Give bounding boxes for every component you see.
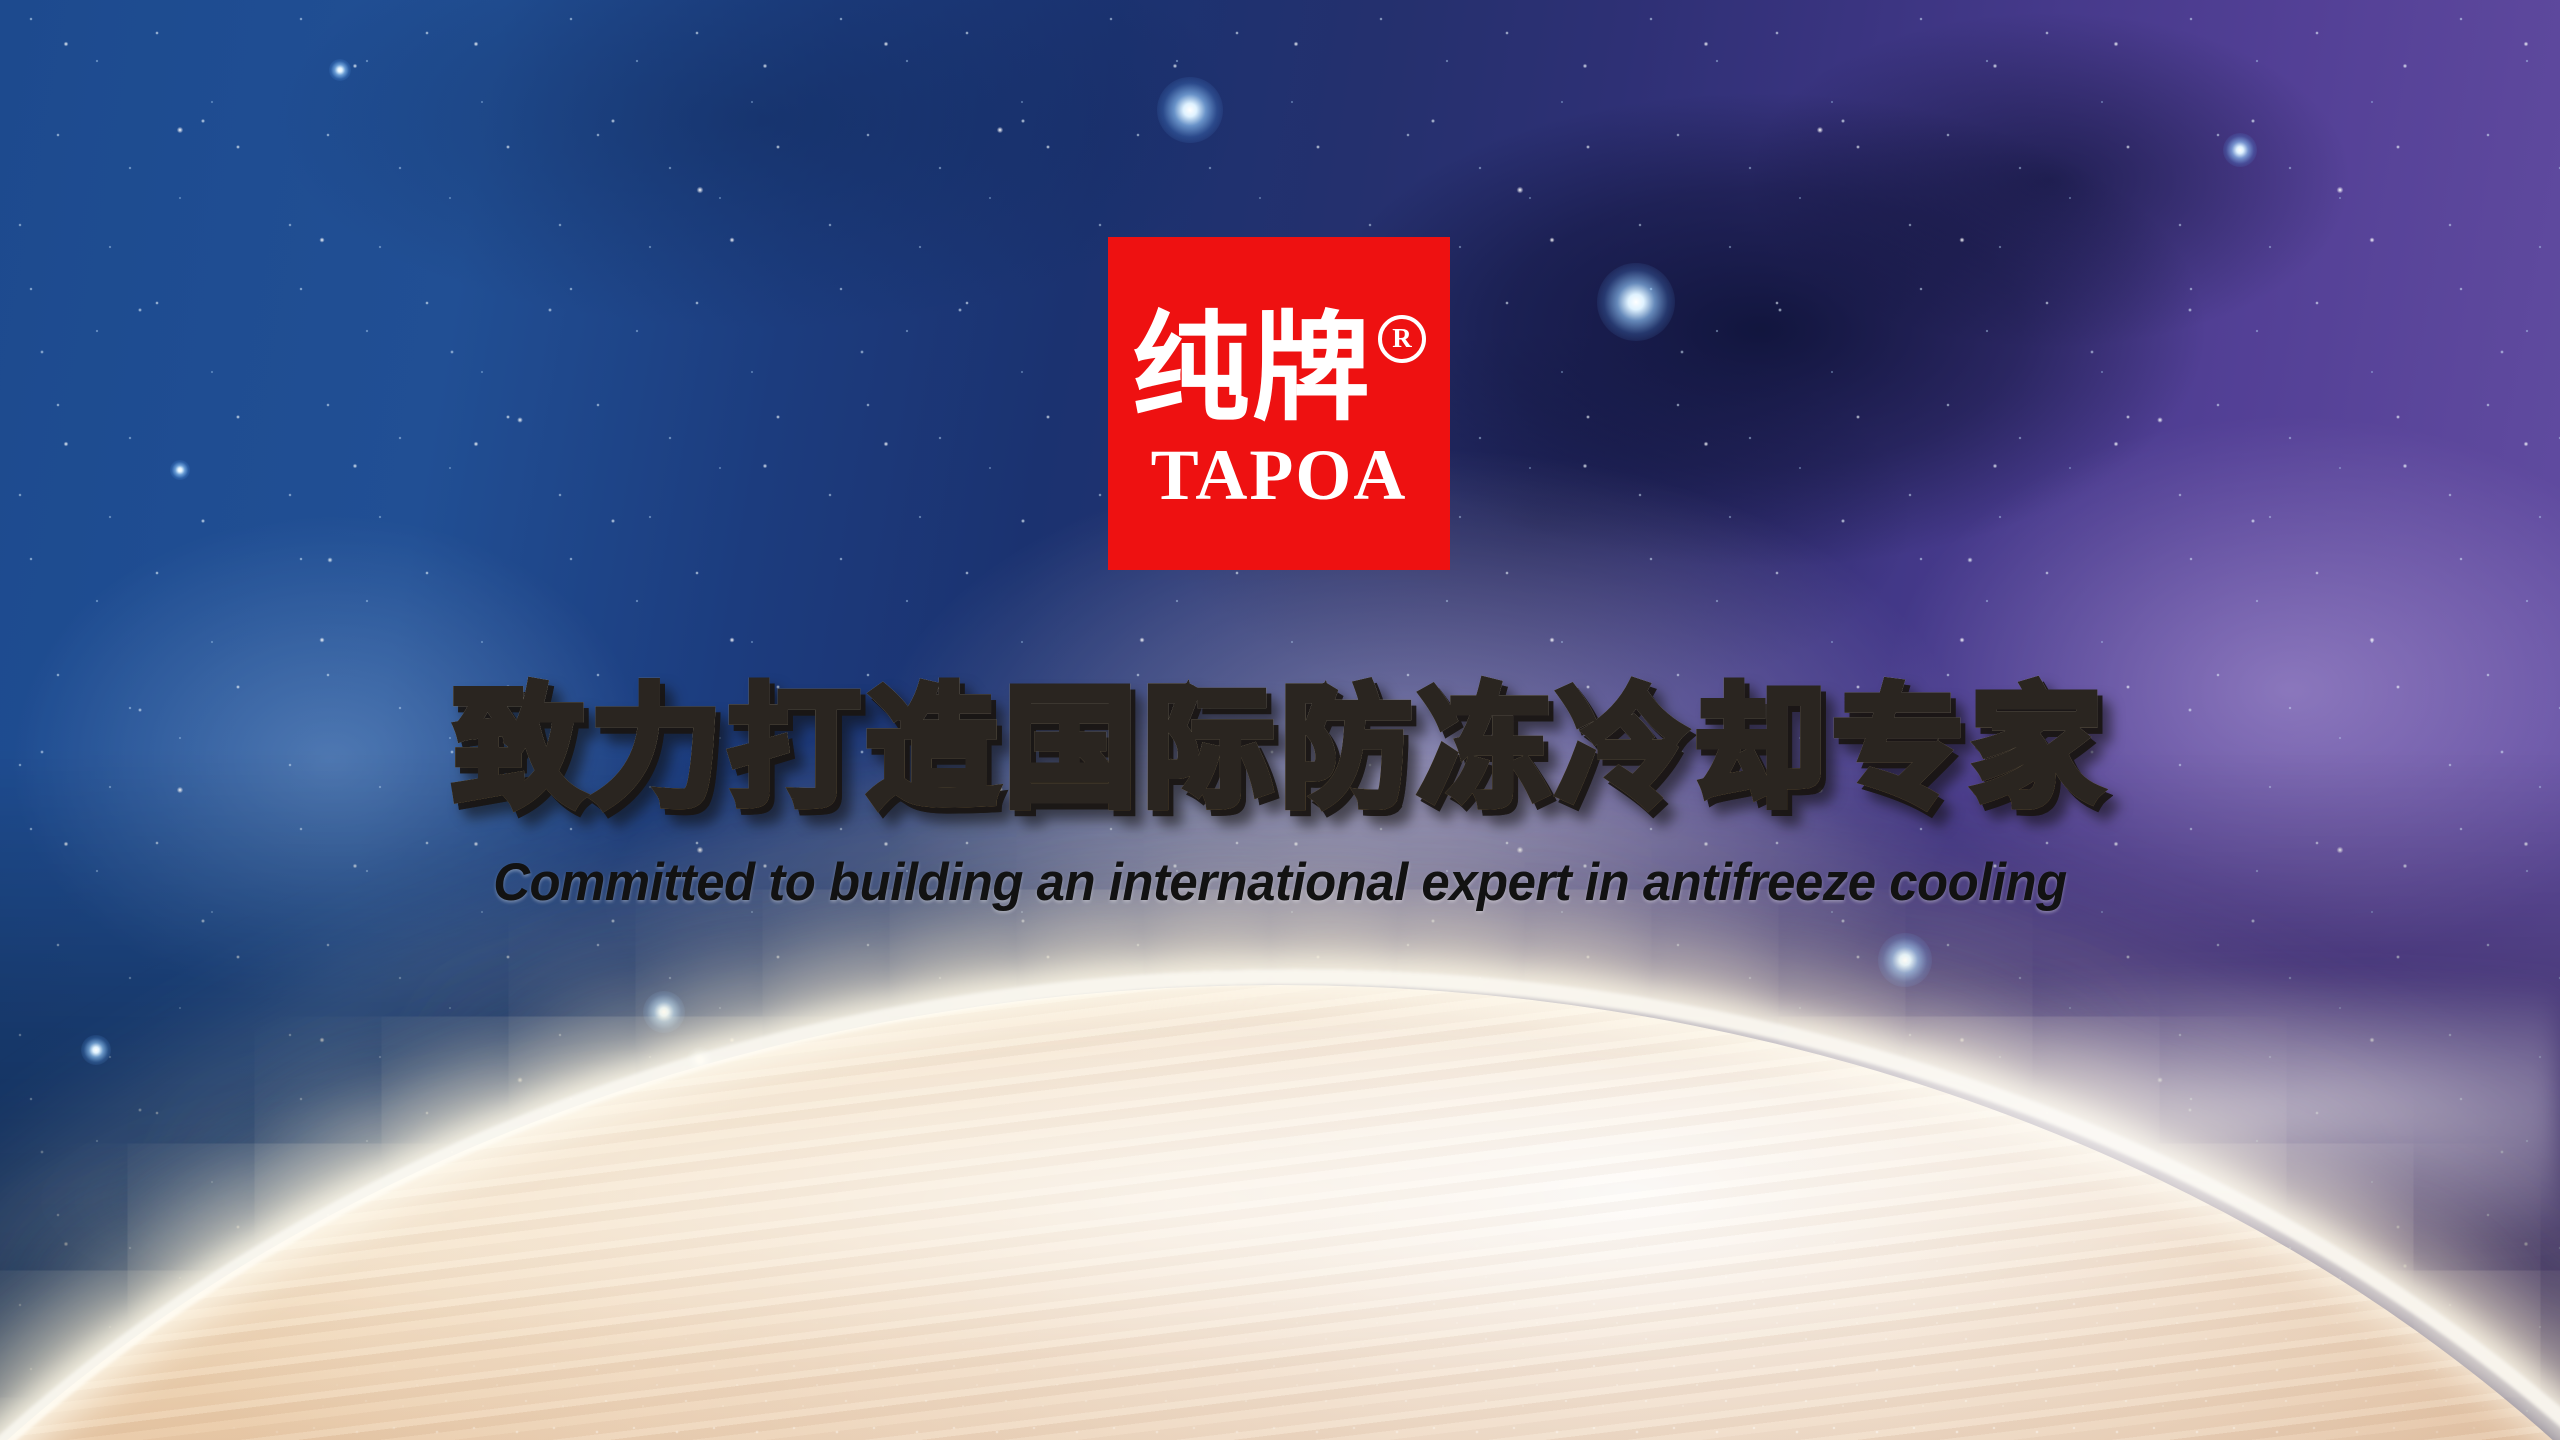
brand-logo-chinese-name: 纯牌 <box>1132 309 1372 427</box>
registered-trademark-icon: R <box>1378 315 1426 363</box>
bright-star-upper-left-icon <box>329 59 351 81</box>
brand-logo[interactable]: 纯牌 R TAPOA <box>1108 237 1450 570</box>
bright-star-top-center-icon <box>1157 77 1223 143</box>
bright-star-mid-left-icon <box>170 460 190 480</box>
promo-banner: 纯牌 R TAPOA 致力打造国际防冻冷却专家 Committed to bui… <box>0 0 2560 1440</box>
horizon-glow <box>0 930 2560 1350</box>
headline-chinese-text: 致力打造国际防冻冷却专家 <box>452 672 2108 826</box>
bright-star-cluster-right-icon <box>1597 263 1675 341</box>
headline-chinese: 致力打造国际防冻冷却专家 <box>0 672 2560 828</box>
brand-logo-latin-name: TAPOA <box>1151 439 1408 511</box>
bright-star-upper-right-icon <box>2223 133 2257 167</box>
brand-logo-chinese-row: 纯牌 R <box>1132 309 1426 427</box>
subtitle-english: Committed to building an international e… <box>51 852 2509 913</box>
